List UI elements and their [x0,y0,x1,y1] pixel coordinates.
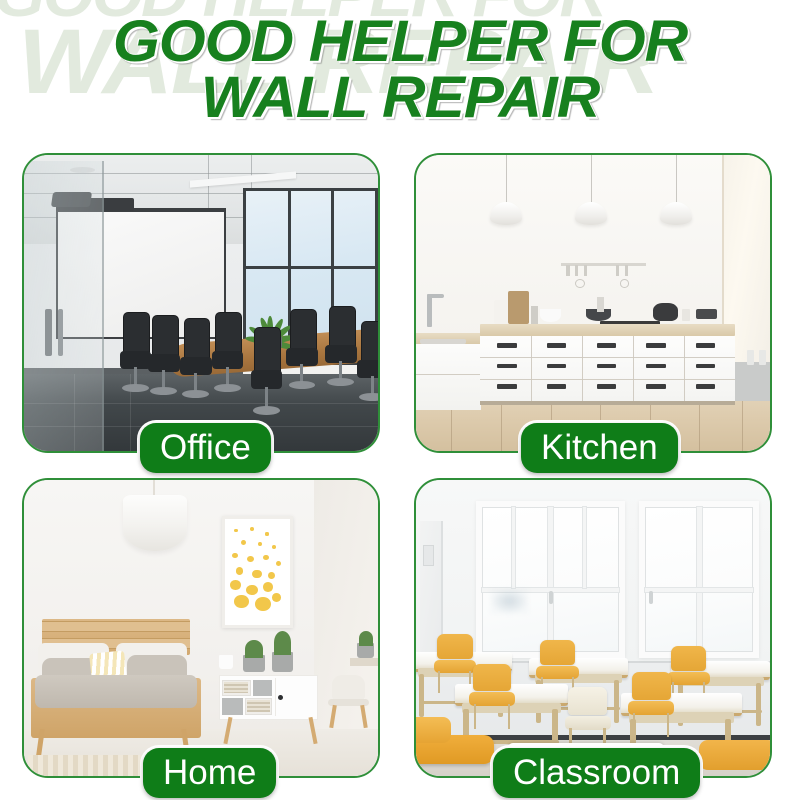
home-sideboard [219,675,318,719]
kitchen-cabinet-seam [582,336,583,401]
classroom-scene-image [416,480,770,776]
kitchen-cabinet-seam [684,336,685,401]
kitchen-cabinet-seam [480,379,735,380]
badge-kitchen[interactable]: Kitchen [521,423,678,473]
kitchen-cabinet-left [416,344,481,409]
home-sideboard-panel [253,680,272,696]
kitchen-faucet [427,294,432,327]
office-chair [180,318,212,407]
home-art-dot [250,527,255,531]
home-mug [219,655,233,670]
home-chair-leg [360,705,368,729]
home-chair-leg [329,705,337,729]
home-wall-art [222,516,293,628]
panel-classroom[interactable] [414,478,772,778]
kitchen-pendant-cord [676,155,677,205]
classroom-chair [469,664,515,729]
home-art-dot [236,567,244,574]
classroom-chair-foreground [699,740,772,770]
panel-home[interactable] [22,478,380,778]
kitchen-drawer-pull [547,384,566,389]
kitchen-teapot [653,303,678,321]
classroom-window-mullion [512,507,515,588]
kitchen-utensil [625,265,628,277]
office-door-handle [58,309,63,356]
office-chair-back [290,309,317,352]
office-chair-back [152,315,179,358]
home-art-dot [252,570,261,579]
kitchen-basket [508,291,529,324]
office-chair [251,327,283,425]
kitchen-kettle-spout [597,297,604,312]
panel-kitchen[interactable] [414,153,772,453]
office-window-mullion [246,266,375,269]
classroom-window-right [639,501,759,658]
classroom-desk-leg [419,674,424,717]
kitchen-cabinet-seam [416,374,481,375]
badge-office[interactable]: Office [140,423,271,473]
kitchen-tray [696,309,717,319]
classroom-chair-back [568,687,607,714]
classroom-window-latch [549,591,553,604]
home-books [247,700,270,712]
office-chair-base [182,390,209,398]
office-chair-base [214,384,241,392]
office-chair-base [359,393,380,401]
home-plant-pot [272,652,293,673]
home-art-dot [258,542,262,546]
kitchen-utensil [584,265,587,277]
header-banner: GOOD HELPER FOR WALL REPAIR GOOD HELPER … [0,0,800,145]
home-plant-leaves [274,631,292,655]
home-art-dot [232,553,238,558]
home-art-dot [234,595,248,608]
office-chair-back [184,318,211,361]
office-chair [286,309,318,398]
kitchen-drawer-pull [597,364,616,369]
kitchen-pendant-cord [506,155,507,205]
office-chair-base [327,378,354,386]
home-art-dot [265,532,268,535]
classroom-window-mullion [583,507,586,588]
home-plant-leaves [245,640,263,658]
classroom-chair-leg [633,713,635,738]
classroom-chair-foreground [414,717,451,744]
office-chair [120,312,152,401]
classroom-chair-back [473,664,512,691]
kitchen-drawer-pull [547,343,566,348]
office-glass-partition [24,161,104,451]
kitchen-drawer-pull [696,384,715,389]
classroom-chair-back [437,634,473,659]
kitchen-bottle [759,350,766,365]
home-art-dot [230,580,240,590]
office-scene-image [24,155,378,451]
kitchen-cabinet-seam [531,336,532,401]
office-chair-base [253,406,280,415]
office-door-handle [45,309,52,356]
kitchen-drawer-pull [646,384,665,389]
kitchen-side-unit [735,362,770,400]
kitchen-utensil-rail [561,263,646,266]
home-art-dot [234,529,237,532]
kitchen-drawer-pull [646,343,665,348]
office-chair-seat [357,360,380,378]
panel-office[interactable] [22,153,380,453]
home-sofa-seat [35,675,198,708]
office-chair [212,312,244,401]
kitchen-utensil [575,265,578,277]
classroom-window-mullion [548,507,553,652]
classroom-window-frosted [490,588,528,614]
kitchen-drawer-pull [696,343,715,348]
home-art-dot [241,540,246,545]
home-books [224,682,248,693]
badge-home[interactable]: Home [143,748,276,798]
home-art-dot [247,556,254,562]
classroom-window-mullion [645,588,753,592]
kitchen-counter [480,324,735,336]
kitchen-bottle [531,306,538,324]
home-art-dot [246,585,258,596]
home-art-dot [272,593,281,602]
office-chair [325,306,357,395]
office-chair-base [122,384,149,392]
badge-classroom[interactable]: Classroom [493,748,700,798]
kitchen-drawer-pull [597,384,616,389]
home-art-dot [255,597,271,611]
classroom-window-latch [649,591,653,604]
kitchen-utensil [566,265,569,277]
kitchen-drawer-pull [547,364,566,369]
classroom-chair-leg [474,704,476,729]
home-art-dot [263,555,269,560]
kitchen-drawer-pull [696,364,715,369]
headline-line-2: WALL REPAIR [0,64,800,131]
kitchen-bottle [747,350,754,365]
classroom-window-mullion [697,507,702,652]
home-art-dot [263,582,273,592]
home-sideboard-knob [278,695,283,700]
kitchen-drawer-pull [497,384,516,389]
office-chair [357,321,380,410]
office-chair-back [361,321,380,364]
home-pendant-lamp [123,495,187,551]
classroom-chair-back [540,640,576,665]
classroom-door-plate [423,545,434,566]
home-dining-table [350,658,378,667]
home-art-dot [272,545,277,549]
kitchen-drawer-pull [497,343,516,348]
office-chair [148,315,180,404]
office-chair-base [289,381,316,389]
scene-grid: Office [0,145,800,800]
kitchen-cabinet-seam [633,336,634,401]
home-art-dot [268,572,275,579]
kitchen-cabinet-seam [480,357,735,358]
home-sideboard-panel [222,698,243,715]
classroom-chair-back [632,672,671,699]
kitchen-drawer-pull [497,364,516,369]
classroom-desk-leg [614,680,619,723]
kitchen-pendant-light [660,202,692,224]
kitchen-scene-image [416,155,770,451]
kitchen-drawer-pull [597,343,616,348]
home-art-dot [276,561,281,566]
kitchen-utensil [616,265,619,277]
classroom-chair-leg [508,704,510,729]
office-chair-back [123,312,150,355]
classroom-chair-leg [667,713,669,738]
home-plant-leaves [359,631,373,646]
home-chair-back [332,675,365,700]
classroom-chair [628,672,674,737]
home-pallet-slat [42,621,191,632]
kitchen-faucet-arm [427,294,445,298]
office-chair-back [215,312,242,355]
home-scene-image [24,480,378,776]
office-chair-back [254,327,281,374]
classroom-desk-leg [756,683,761,726]
classroom-window-left [476,501,625,658]
office-chair-base [150,387,177,395]
kitchen-drawer-pull [646,364,665,369]
classroom-chair-back [671,646,707,671]
kitchen-cup [682,309,691,321]
office-chair-back [329,306,356,349]
kitchen-pendant-cord [591,155,592,205]
classroom-chair-leg [438,671,440,693]
home-dining-chair [328,675,374,728]
